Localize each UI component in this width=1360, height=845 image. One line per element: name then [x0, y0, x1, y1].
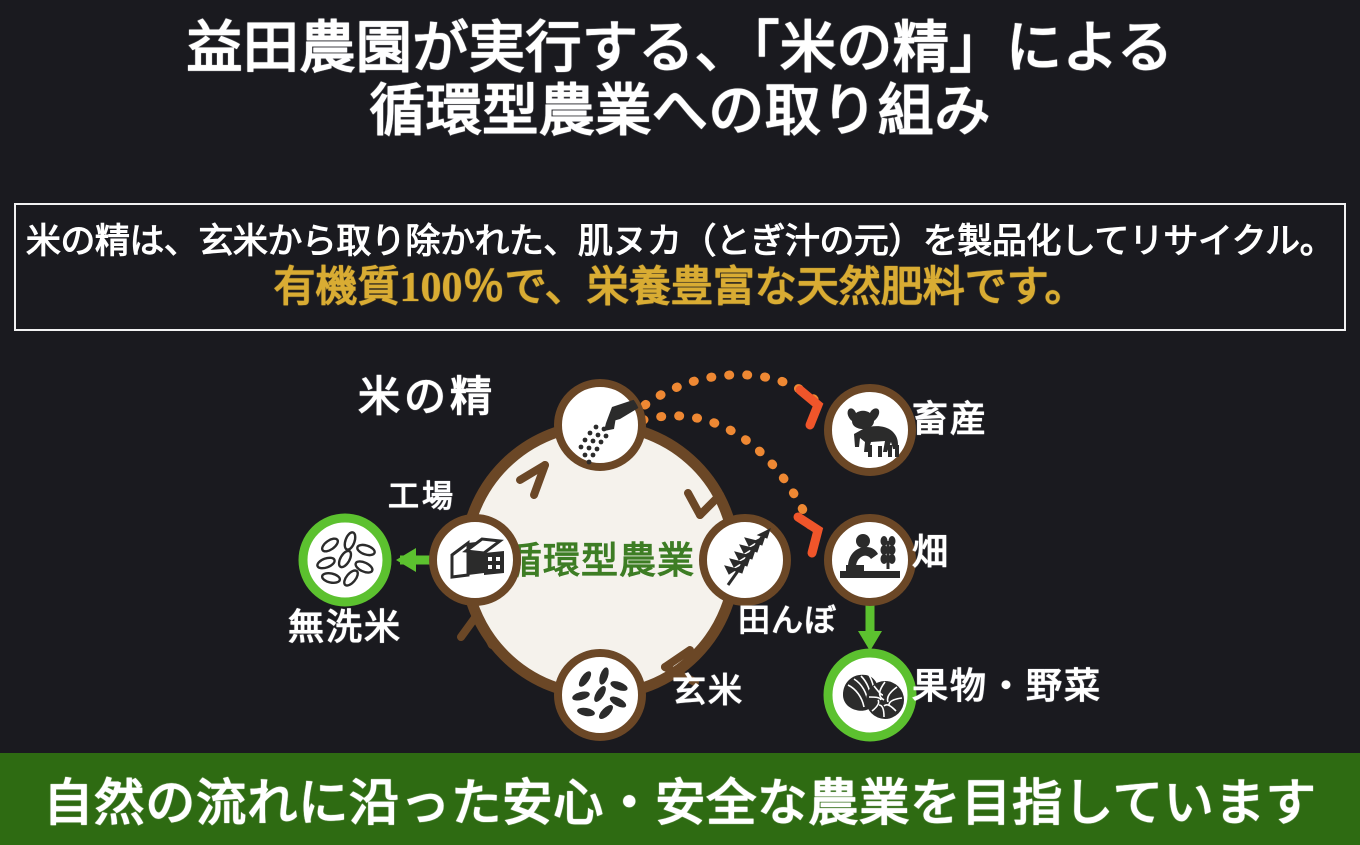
diagram-label-factory: 工場 — [388, 471, 456, 516]
node-kudamono[interactable] — [828, 653, 912, 737]
node-tambo[interactable] — [703, 518, 787, 602]
diagram-label-hatake: 畑 — [912, 523, 950, 575]
node-factory[interactable] — [433, 518, 517, 602]
diagram-center-label: 循環型農業 — [505, 540, 695, 581]
cyclical-agriculture-diagram: 循環型農業 — [0, 345, 1360, 750]
diagram-label-chikusan: 畜産 — [912, 390, 988, 442]
page-title-line-2: 循環型農業への取り組み — [0, 81, 1360, 144]
diagram-label-komenosei: 米の精 — [358, 363, 496, 424]
arrow-factory-to-musenmai — [396, 548, 432, 572]
diagram-label-musenmai: 無洗米 — [288, 598, 402, 650]
diagram-label-kudamono: 果物・野菜 — [912, 657, 1102, 709]
lead-line-1: 米の精は、玄米から取り除かれた、肌ヌカ（とぎ汁の元）を製品化してリサイクル。 — [26, 223, 1334, 262]
arrow-field-to-produce — [858, 603, 882, 651]
arrow-fertilizer-to-livestock — [645, 375, 818, 425]
node-hatake[interactable] — [828, 518, 912, 602]
footer-banner-text: 自然の流れに沿った安心・安全な農業を目指しています — [43, 763, 1317, 835]
diagram-label-genmai: 玄米 — [672, 663, 744, 712]
diagram-label-tambo: 田んぼ — [738, 595, 837, 641]
page-title-line-1: 益田農園が実行する、「米の精」による — [0, 18, 1360, 81]
page-title: 益田農園が実行する、「米の精」による 循環型農業への取り組み — [0, 0, 1360, 145]
lead-description-box: 米の精は、玄米から取り除かれた、肌ヌカ（とぎ汁の元）を製品化してリサイクル。 有… — [14, 203, 1346, 331]
node-genmai[interactable] — [558, 653, 642, 737]
node-musenmai[interactable] — [303, 518, 387, 602]
node-fertilizer[interactable] — [558, 383, 642, 467]
node-chikusan[interactable] — [828, 388, 912, 472]
footer-banner: 自然の流れに沿った安心・安全な農業を目指しています — [0, 753, 1360, 845]
lead-line-2-highlight: 有機質100％で、栄養豊富な天然肥料です。 — [273, 265, 1086, 311]
